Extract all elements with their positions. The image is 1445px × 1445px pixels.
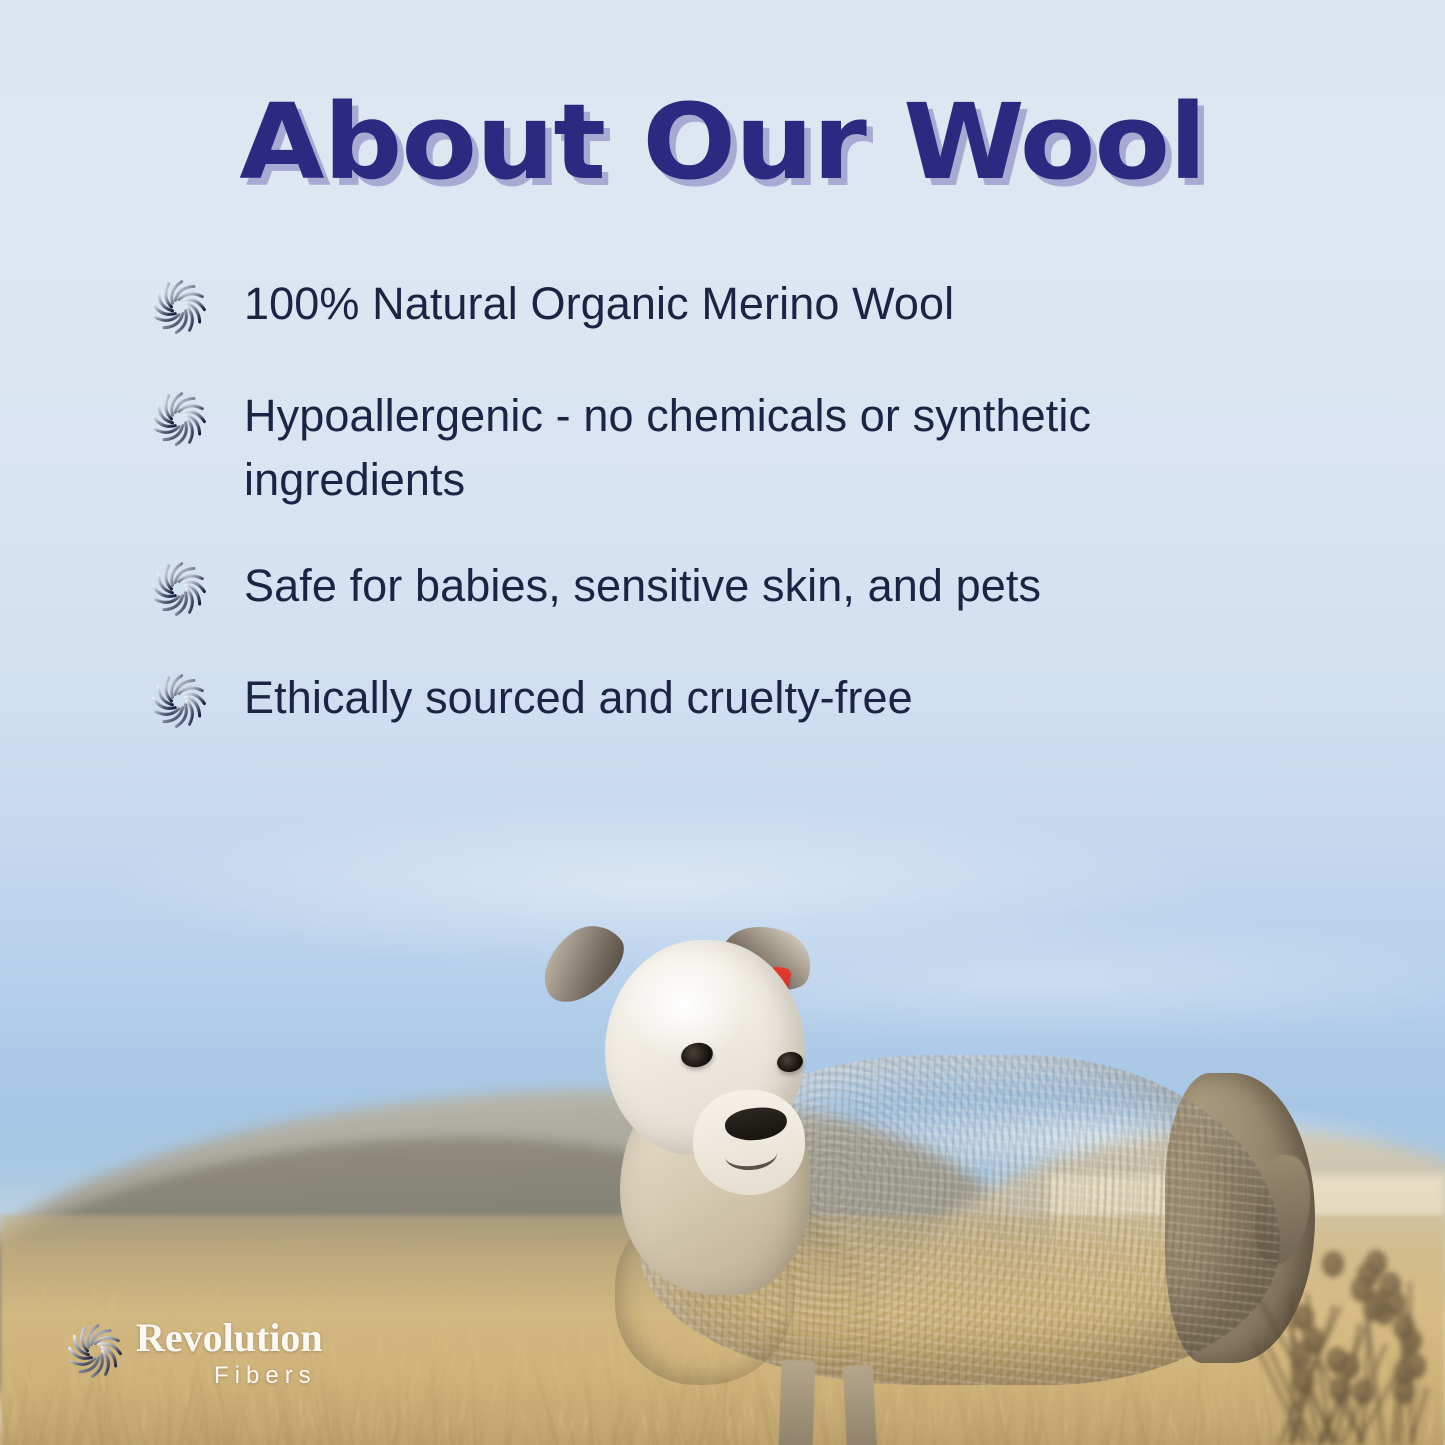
brand-logo-text: Revolution Fibers (136, 1318, 323, 1390)
list-item: Ethically sourced and cruelty-free (150, 666, 1330, 730)
list-item-label: Hypoallergenic - no chemicals or synthet… (244, 384, 1244, 512)
list-item-label: Safe for babies, sensitive skin, and pet… (244, 554, 1041, 618)
sheep-leg (843, 1364, 878, 1445)
brand-logo: Revolution Fibers (66, 1318, 323, 1390)
sheep-leg (778, 1359, 815, 1445)
sheep-head (605, 940, 805, 1155)
wool-swirl-icon (150, 390, 208, 448)
wool-swirl-icon (150, 278, 208, 336)
list-item-label: 100% Natural Organic Merino Wool (244, 272, 954, 336)
list-item: 100% Natural Organic Merino Wool (150, 272, 1330, 336)
list-item: Hypoallergenic - no chemicals or synthet… (150, 384, 1330, 512)
list-item: Safe for babies, sensitive skin, and pet… (150, 554, 1330, 618)
sheep-eye-right (776, 1050, 805, 1073)
shrub (1255, 1235, 1445, 1445)
benefits-list: 100% Natural Organic Merino Wool Hypoall… (150, 272, 1330, 778)
wool-swirl-icon (150, 560, 208, 618)
brand-tagline: Fibers (214, 1362, 323, 1390)
wool-swirl-icon (150, 672, 208, 730)
wool-info-poster: About Our Wool 100% Natural Organic Meri… (0, 0, 1445, 1445)
list-item-label: Ethically sourced and cruelty-free (244, 666, 913, 730)
brand-name: Revolution (136, 1318, 323, 1358)
sheep-eye-left (679, 1040, 715, 1070)
page-title: About Our Wool (0, 88, 1445, 197)
revolution-fibers-swirl-icon (66, 1322, 124, 1380)
sheep-photo (545, 905, 1315, 1445)
